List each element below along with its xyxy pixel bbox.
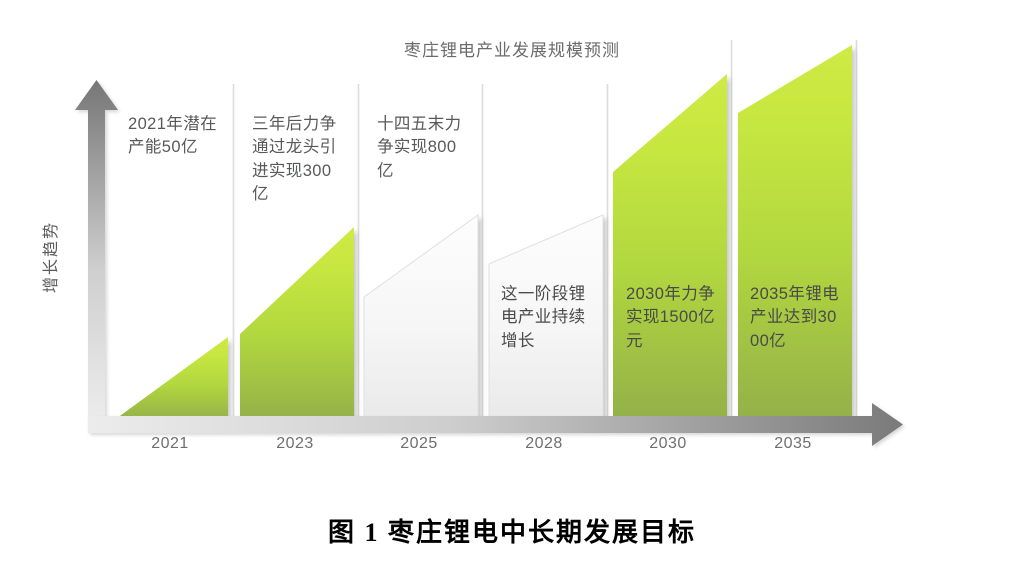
x-tick-2025: 2025 (359, 435, 479, 453)
chart-plot-area (0, 0, 1024, 500)
bar-2030[interactable] (613, 74, 727, 421)
x-tick-2035: 2035 (733, 435, 853, 453)
bar-2023[interactable] (240, 227, 354, 421)
bar-label-2025: 十四五末力争实现800亿 (377, 113, 469, 183)
x-tick-2028: 2028 (484, 435, 604, 453)
x-tick-2023: 2023 (235, 435, 355, 453)
bar-label-2030: 2030年力争实现1500亿元 (626, 283, 718, 353)
figure-container: 枣庄锂电产业发展规模预测 增长趋势 (0, 0, 1024, 569)
figure-caption: 图 1 枣庄锂电中长期发展目标 (0, 512, 1024, 549)
bar-label-2028: 这一阶段锂电产业持续增长 (501, 283, 593, 353)
x-tick-2021: 2021 (110, 435, 230, 453)
bar-label-2023: 三年后力争通过龙头引进实现300亿 (252, 113, 344, 207)
bar-2021[interactable] (113, 337, 228, 421)
bar-label-2035: 2035年锂电产业达到3000亿 (750, 283, 842, 353)
x-tick-2030: 2030 (608, 435, 728, 453)
bar-2025[interactable] (364, 215, 478, 421)
bar-label-2021: 2021年潜在产能50亿 (128, 113, 220, 160)
y-axis-arrow (75, 80, 118, 425)
bar-2035[interactable] (738, 45, 852, 421)
